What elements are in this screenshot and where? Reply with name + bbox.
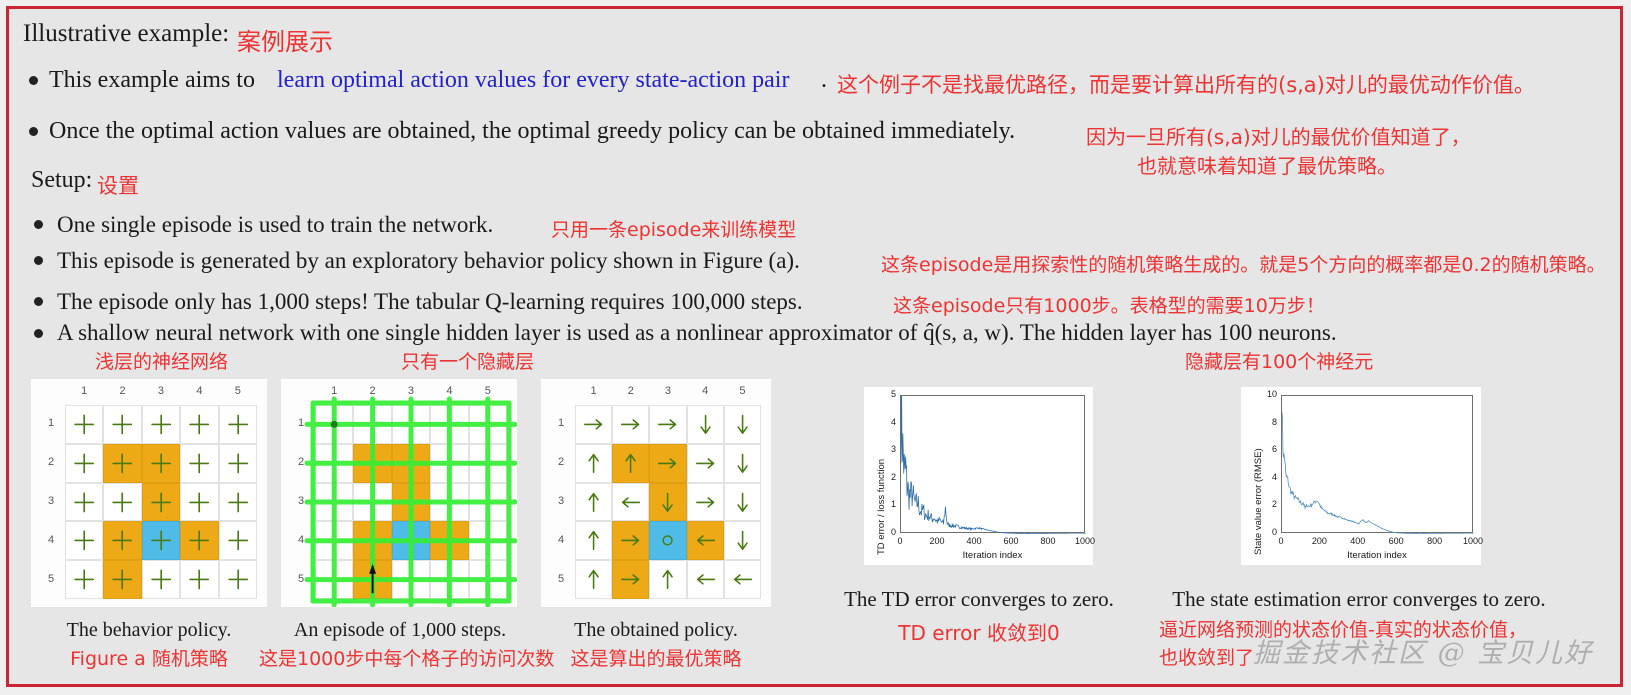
grid-cell[interactable] [353, 444, 391, 483]
grid-row-header: 5 [553, 573, 569, 585]
slide-canvas: Illustrative example: 案例展示 This example … [6, 6, 1623, 687]
grid-row-header: 4 [43, 534, 59, 546]
grid-cell[interactable] [430, 483, 468, 522]
grid-cell[interactable] [469, 521, 507, 560]
grid-row-header: 1 [553, 417, 569, 429]
grid-col-header: 1 [575, 385, 612, 397]
grid-cell[interactable] [142, 444, 180, 483]
grid-cell[interactable] [180, 560, 218, 599]
grid-cell[interactable] [469, 483, 507, 522]
grid-cell[interactable] [103, 444, 141, 483]
grid-cell[interactable] [575, 521, 612, 560]
y-tick-label: 4 [872, 417, 896, 427]
td-error-axes [900, 395, 1085, 533]
y-tick-label: 10 [1249, 389, 1277, 399]
bullet-2-cn-line2: 也就意味着知道了最优策略。 [1137, 150, 1397, 179]
td-error-caption-cn: TD error 收敛到0 [819, 617, 1139, 646]
setup-label-cn: 设置 [97, 170, 139, 200]
grid-row-header: 3 [43, 495, 59, 507]
bullet-dot [34, 329, 43, 338]
grid-cell[interactable] [392, 444, 430, 483]
grid-cell[interactable] [612, 405, 649, 444]
grid-col-header: 4 [180, 385, 218, 397]
grid-cell[interactable] [430, 521, 468, 560]
setup-bullet-4-cn-c: 隐藏层有100个神经元 [1185, 347, 1373, 374]
grid-row-header: 4 [293, 534, 309, 546]
figure-2-caption: An episode of 1,000 steps. [267, 619, 533, 642]
grid-col-header: 3 [649, 385, 686, 397]
grid-cell[interactable] [469, 560, 507, 599]
bullet-dot [29, 127, 38, 136]
x-tick-label: 600 [1380, 536, 1412, 546]
grid-cell[interactable] [103, 521, 141, 560]
grid-cell[interactable] [687, 521, 724, 560]
figure-1-caption: The behavior policy. [23, 619, 275, 642]
grid-cell[interactable] [219, 521, 257, 560]
grid-cell[interactable] [180, 405, 218, 444]
grid-cell[interactable] [612, 560, 649, 599]
grid-cell[interactable] [142, 405, 180, 444]
grid-cell[interactable] [724, 405, 761, 444]
grid-cell[interactable] [315, 483, 353, 522]
figure-3-caption-cn: 这是算出的最优策略 [529, 644, 783, 671]
grid-cell[interactable] [315, 405, 353, 444]
bullet-2-text: Once the optimal action values are obtai… [49, 118, 1015, 145]
setup-bullet-4-cn-b: 只有一个隐藏层 [401, 347, 534, 374]
grid-col-header: 1 [65, 385, 103, 397]
rmse-axes [1281, 395, 1473, 533]
grid-cell[interactable] [65, 483, 103, 522]
grid-cell[interactable] [103, 405, 141, 444]
grid-row-header: 1 [293, 417, 309, 429]
rmse-xlabel: Iteration index [1281, 550, 1473, 561]
bullet-dot [29, 76, 38, 85]
td-error-chart: TD error / loss function 012345 02004006… [864, 387, 1093, 565]
setup-bullet-1: One single episode is used to train the … [57, 212, 493, 238]
grid-cell[interactable] [724, 560, 761, 599]
bullet-1-pre: This example aims to [49, 67, 255, 94]
episode-visit-grid: 1234512345 [281, 379, 517, 607]
grid-cell[interactable] [392, 521, 430, 560]
watermark: 掘金技术社区 @ 宝贝儿好 [1253, 631, 1593, 670]
td-error-caption: The TD error converges to zero. [819, 587, 1139, 612]
grid-cell[interactable] [353, 405, 391, 444]
x-tick-label: 400 [958, 536, 990, 546]
grid-cell[interactable] [219, 560, 257, 599]
y-tick-label: 3 [872, 444, 896, 454]
bullet-1-post: . [821, 67, 827, 94]
grid-cell[interactable] [65, 560, 103, 599]
grid-cell[interactable] [219, 405, 257, 444]
grid-cell[interactable] [65, 444, 103, 483]
grid-cell[interactable] [315, 444, 353, 483]
x-tick-label: 200 [1303, 536, 1335, 546]
bullet-1-cn: 这个例子不是找最优路径，而是要计算出所有的(s,a)对儿的最优动作价值。 [837, 69, 1535, 99]
grid-cell[interactable] [430, 444, 468, 483]
grid-cell[interactable] [219, 444, 257, 483]
grid-cell[interactable] [649, 444, 686, 483]
grid-cell[interactable] [142, 483, 180, 522]
x-tick-label: 1000 [1069, 536, 1101, 546]
bullet-dot [34, 297, 43, 306]
grid-cell[interactable] [612, 521, 649, 560]
grid-cell[interactable] [65, 521, 103, 560]
setup-bullet-1-cn: 只用一条episode来训练模型 [551, 215, 796, 242]
bullet-2-cn-line1: 因为一旦所有(s,a)对儿的最优价值知道了， [1086, 121, 1471, 150]
grid-row-header: 5 [43, 573, 59, 585]
setup-bullet-2: This episode is generated by an explorat… [57, 248, 800, 274]
rmse-caption-cn-2: 也收敛到了 [1159, 643, 1254, 670]
grid-cell[interactable] [353, 483, 391, 522]
page-title: Illustrative example: [23, 20, 229, 48]
y-tick-label: 6 [1249, 444, 1277, 454]
setup-bullet-4: A shallow neural network with one single… [57, 320, 1337, 346]
setup-bullet-4-cn-a: 浅层的神经网络 [95, 347, 228, 374]
grid-cell[interactable] [353, 521, 391, 560]
grid-cell[interactable] [687, 560, 724, 599]
grid-cell[interactable] [103, 560, 141, 599]
grid-cell[interactable] [142, 521, 180, 560]
grid-col-header: 3 [142, 385, 180, 397]
grid-col-header: 2 [612, 385, 649, 397]
setup-bullet-2-cn: 这条episode是用探索性的随机策略生成的。就是5个方向的概率都是0.2的随机… [881, 250, 1606, 277]
x-tick-label: 400 [1342, 536, 1374, 546]
grid-cell[interactable] [430, 560, 468, 599]
x-tick-label: 600 [995, 536, 1027, 546]
grid-cell[interactable] [430, 405, 468, 444]
grid-row-header: 2 [553, 456, 569, 468]
grid-cell[interactable] [687, 405, 724, 444]
obtained-policy-grid: 1234512345 [541, 379, 771, 607]
grid-cell[interactable] [469, 405, 507, 444]
grid-cell[interactable] [392, 483, 430, 522]
x-tick-label: 0 [884, 536, 916, 546]
grid-cell[interactable] [219, 483, 257, 522]
grid-cell[interactable] [315, 560, 353, 599]
grid-col-header: 5 [724, 385, 761, 397]
grid-row-header: 4 [553, 534, 569, 546]
setup-bullet-3-cn: 这条episode只有1000步。表格型的需要10万步！ [893, 291, 1325, 318]
grid-cell[interactable] [180, 483, 218, 522]
grid-cell[interactable] [724, 483, 761, 522]
grid-cell[interactable] [612, 444, 649, 483]
grid-cell[interactable] [575, 483, 612, 522]
grid-row-header: 1 [43, 417, 59, 429]
setup-bullet-3: The episode only has 1,000 steps! The ta… [57, 289, 803, 315]
grid-col-header: 2 [103, 385, 141, 397]
grid-cell[interactable] [392, 560, 430, 599]
x-tick-label: 0 [1265, 536, 1297, 546]
y-tick-label: 4 [1249, 472, 1277, 482]
grid-cell[interactable] [724, 444, 761, 483]
grid-cell[interactable] [687, 483, 724, 522]
grid-col-header: 5 [469, 385, 507, 397]
figure-2-caption-cn: 这是1000步中每个格子的访问次数 [259, 644, 541, 671]
grid-cell[interactable] [315, 521, 353, 560]
grid-col-header: 3 [392, 385, 430, 397]
rmse-caption: The state estimation error converges to … [1149, 587, 1569, 612]
page-title-cn: 案例展示 [237, 22, 333, 57]
grid-cell[interactable] [649, 560, 686, 599]
grid-cell[interactable] [649, 483, 686, 522]
grid-cell[interactable] [649, 521, 686, 560]
bullet-dot [34, 256, 43, 265]
grid-cell[interactable] [575, 444, 612, 483]
grid-row-header: 2 [43, 456, 59, 468]
grid-cell[interactable] [575, 560, 612, 599]
chart-line [1282, 412, 1474, 534]
grid-col-header: 5 [219, 385, 257, 397]
behavior-policy-grid: 1234512345 [31, 379, 267, 607]
grid-cell[interactable] [392, 405, 430, 444]
x-tick-label: 800 [1032, 536, 1064, 546]
y-tick-label: 5 [872, 389, 896, 399]
y-tick-label: 8 [1249, 417, 1277, 427]
y-tick-label: 2 [1249, 499, 1277, 509]
grid-cell[interactable] [469, 444, 507, 483]
figure-1-caption-cn: Figure a 随机策略 [23, 644, 275, 671]
state-value-error-chart: State value error (RMSE) 0246810 0200400… [1241, 387, 1481, 565]
grid-col-header: 1 [315, 385, 353, 397]
grid-cell[interactable] [142, 560, 180, 599]
bullet-dot [34, 220, 43, 229]
x-tick-label: 1000 [1457, 536, 1489, 546]
td-error-xlabel: Iteration index [900, 550, 1085, 561]
grid-cell[interactable] [103, 483, 141, 522]
grid-row-header: 2 [293, 456, 309, 468]
chart-line [901, 396, 1086, 534]
bullet-1-highlight: learn optimal action values for every st… [277, 67, 789, 94]
grid-cell[interactable] [687, 444, 724, 483]
grid-cell[interactable] [65, 405, 103, 444]
x-tick-label: 200 [921, 536, 953, 546]
grid-cell[interactable] [649, 405, 686, 444]
grid-row-header: 3 [293, 495, 309, 507]
grid-row-header: 5 [293, 573, 309, 585]
grid-cell[interactable] [180, 444, 218, 483]
x-tick-label: 800 [1419, 536, 1451, 546]
y-tick-label: 2 [872, 472, 896, 482]
grid-col-header: 2 [353, 385, 391, 397]
grid-cell[interactable] [612, 483, 649, 522]
grid-cell[interactable] [180, 521, 218, 560]
figure-3-caption: The obtained policy. [529, 619, 783, 642]
grid-cell[interactable] [724, 521, 761, 560]
setup-label: Setup: [31, 167, 92, 194]
grid-row-header: 3 [553, 495, 569, 507]
grid-cell[interactable] [353, 560, 391, 599]
grid-col-header: 4 [430, 385, 468, 397]
grid-col-header: 4 [687, 385, 724, 397]
grid-cell[interactable] [575, 405, 612, 444]
y-tick-label: 1 [872, 499, 896, 509]
